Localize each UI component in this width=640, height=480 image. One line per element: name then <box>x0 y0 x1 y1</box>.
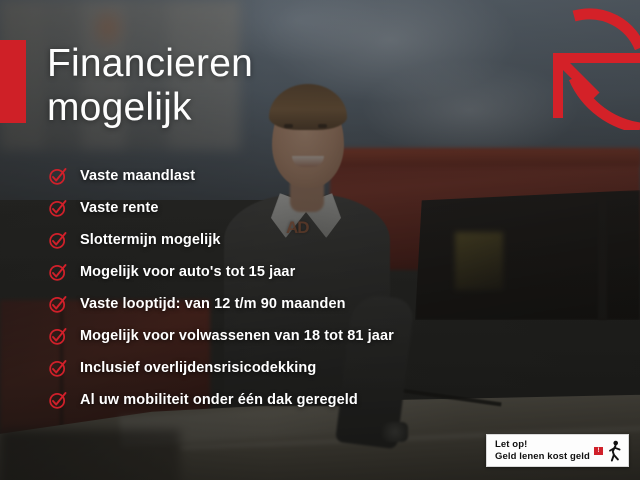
warning-line-1: Let op! <box>495 439 594 451</box>
warning-line-2: Geld lenen kost geld <box>495 451 594 463</box>
list-item: Slottermijn mogelijk <box>48 224 394 256</box>
check-circle-icon <box>48 262 68 282</box>
list-item-label: Inclusief overlijdensrisicodekking <box>80 360 316 376</box>
list-item: Vaste rente <box>48 192 394 224</box>
list-item: Vaste looptijd: van 12 t/m 90 maanden <box>48 288 394 320</box>
credit-warning-badge: Let op! Geld lenen kost geld ! <box>486 434 629 467</box>
list-item: Al uw mobiliteit onder één dak geregeld <box>48 384 394 416</box>
check-circle-icon <box>48 198 68 218</box>
check-circle-icon <box>48 294 68 314</box>
check-circle-icon <box>48 326 68 346</box>
check-circle-icon <box>48 166 68 186</box>
promo-banner: AD Financieren mogelijk Vaste maandlast <box>0 0 640 480</box>
warning-exclamation-icon: ! <box>594 447 603 455</box>
check-circle-icon <box>48 390 68 410</box>
list-item-label: Vaste rente <box>80 200 158 216</box>
warning-icon-group: ! <box>594 440 623 462</box>
list-item: Mogelijk voor volwassenen van 18 tot 81 … <box>48 320 394 352</box>
list-item-label: Mogelijk voor volwassenen van 18 tot 81 … <box>80 328 394 344</box>
list-item: Vaste maandlast <box>48 160 394 192</box>
page-title: Financieren mogelijk <box>47 42 253 130</box>
red-corner-arrow-graphic <box>544 0 640 130</box>
walking-person-icon <box>604 440 623 462</box>
red-accent-block <box>0 40 26 123</box>
check-circle-icon <box>48 230 68 250</box>
feature-list: Vaste maandlast Vaste rente Slottermijn … <box>48 160 394 416</box>
list-item: Inclusief overlijdensrisicodekking <box>48 352 394 384</box>
warning-text-block: Let op! Geld lenen kost geld <box>495 439 594 462</box>
list-item-label: Mogelijk voor auto's tot 15 jaar <box>80 264 295 280</box>
check-circle-icon <box>48 358 68 378</box>
list-item: Mogelijk voor auto's tot 15 jaar <box>48 256 394 288</box>
list-item-label: Vaste maandlast <box>80 168 195 184</box>
list-item-label: Vaste looptijd: van 12 t/m 90 maanden <box>80 296 346 312</box>
list-item-label: Al uw mobiliteit onder één dak geregeld <box>80 392 358 408</box>
list-item-label: Slottermijn mogelijk <box>80 232 221 248</box>
